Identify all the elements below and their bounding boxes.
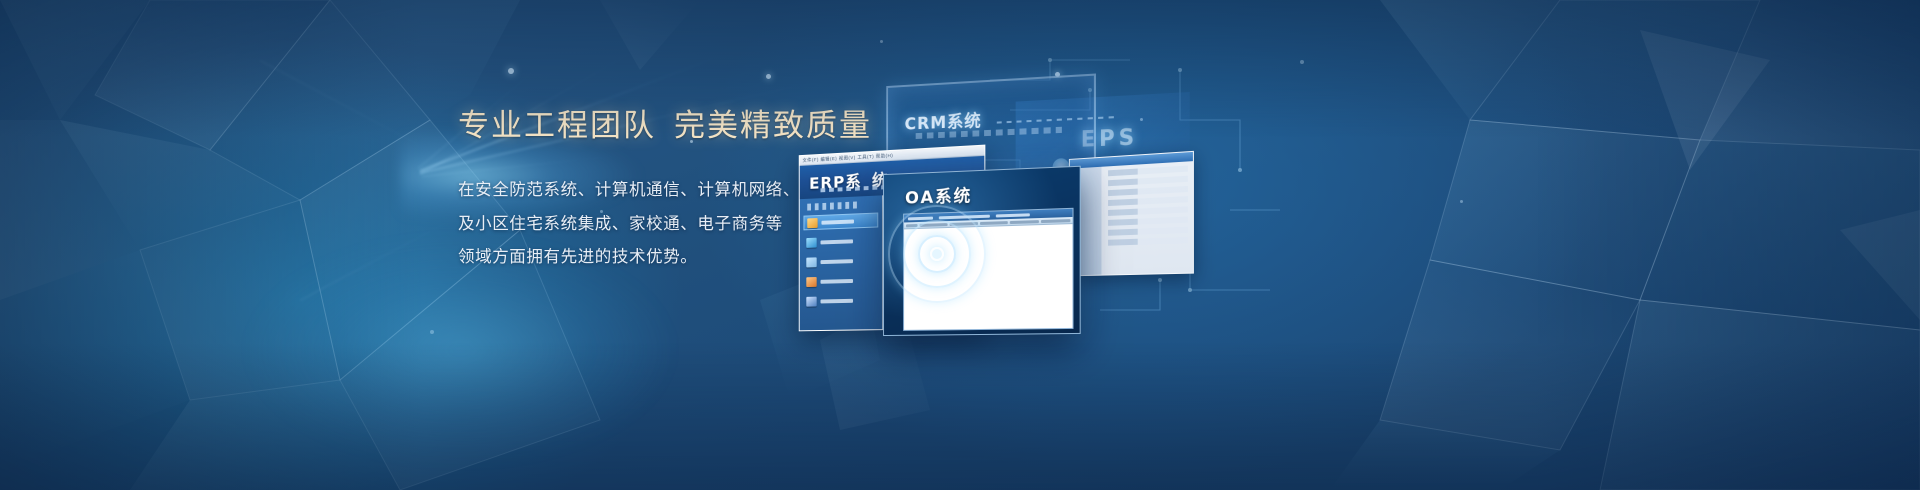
erp-nav-label bbox=[820, 259, 853, 264]
data-row bbox=[1108, 166, 1188, 177]
data-window-rows bbox=[1103, 165, 1193, 246]
oa-window[interactable]: OA系统 bbox=[883, 166, 1081, 336]
erp-nav-item[interactable] bbox=[803, 232, 878, 249]
data-row bbox=[1108, 237, 1188, 246]
oa-toolbar-segment bbox=[908, 216, 933, 220]
oa-column-header bbox=[980, 221, 1009, 225]
erp-nav-item[interactable] bbox=[803, 272, 878, 289]
tools-icon bbox=[806, 237, 816, 247]
software-screens-group: EPS HAN CRM系统 bbox=[770, 55, 1240, 355]
bokeh-dot bbox=[880, 40, 883, 43]
oa-data-grid[interactable] bbox=[903, 208, 1073, 331]
oa-toolbar-segment bbox=[996, 213, 1030, 217]
folder-icon bbox=[807, 218, 817, 228]
data-row bbox=[1108, 217, 1188, 226]
window-icon bbox=[806, 257, 816, 267]
oa-title: OA系统 bbox=[905, 181, 972, 208]
erp-nav-label bbox=[821, 219, 854, 224]
oa-toolbar-segment bbox=[939, 214, 990, 219]
oa-grid-rows bbox=[904, 224, 1072, 330]
erp-sidebar-heading bbox=[807, 201, 857, 210]
oa-column-header bbox=[949, 222, 977, 226]
bokeh-dot bbox=[430, 330, 434, 334]
erp-nav-label bbox=[820, 278, 853, 283]
erp-nav-item[interactable] bbox=[803, 292, 878, 308]
erp-nav-label bbox=[820, 298, 853, 303]
data-row bbox=[1108, 227, 1188, 236]
erp-nav-label bbox=[820, 239, 853, 244]
background-data-window bbox=[1069, 151, 1194, 277]
data-row bbox=[1108, 186, 1188, 196]
erp-nav-item[interactable] bbox=[803, 212, 878, 230]
oa-column-header bbox=[919, 223, 947, 227]
box-icon bbox=[806, 277, 816, 287]
grid-icon bbox=[806, 296, 816, 306]
bokeh-dot bbox=[508, 68, 514, 74]
oa-column-header bbox=[1041, 219, 1070, 223]
headline-part-1: 专业工程团队 bbox=[458, 108, 656, 144]
data-row bbox=[1108, 206, 1188, 216]
data-row bbox=[1108, 176, 1188, 186]
erp-sidebar bbox=[800, 195, 882, 331]
data-row bbox=[1108, 196, 1188, 206]
hero-banner: 专业工程团队完美精致质量 在安全防范系统、计算机通信、计算机网络、智能大厦 及小… bbox=[0, 0, 1920, 490]
bokeh-dot bbox=[1300, 60, 1304, 64]
oa-column-header bbox=[906, 224, 918, 227]
oa-column-header bbox=[1010, 220, 1039, 224]
erp-nav-item[interactable] bbox=[803, 252, 878, 269]
bokeh-dot bbox=[1460, 200, 1463, 203]
